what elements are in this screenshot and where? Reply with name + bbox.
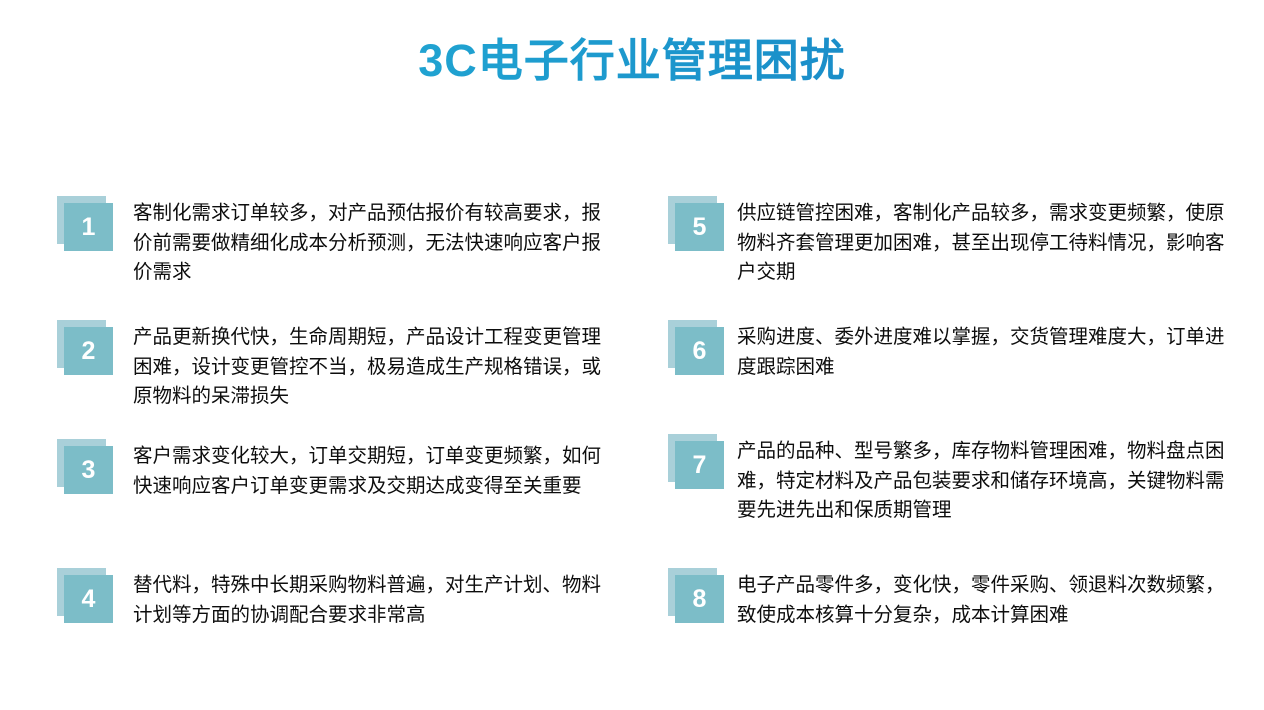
- item-description: 产品的品种、型号繁多，库存物料管理困难，物料盘点困难，特定材料及产品包装要求和储…: [737, 437, 1227, 526]
- item-description: 采购进度、委外进度难以掌握，交货管理难度大，订单进度跟踪困难: [737, 323, 1227, 382]
- left-column: 1 客制化需求订单较多，对产品预估报价有较高要求，报价前需要做精细化成本分析预测…: [0, 0, 632, 710]
- item-description: 客制化需求订单较多，对产品预估报价有较高要求，报价前需要做精细化成本分析预测，无…: [133, 199, 603, 288]
- item-description: 供应链管控困难，客制化产品较多，需求变更频繁，使原物料齐套管理更加困难，甚至出现…: [737, 199, 1227, 288]
- badge-number: 5: [675, 203, 724, 251]
- badge-number: 2: [64, 327, 113, 375]
- badge-number: 6: [675, 327, 724, 375]
- item-description: 客户需求变化较大，订单交期短，订单变更频繁，如何快速响应客户订单变更需求及交期达…: [133, 442, 603, 501]
- item-number-badge: 7: [668, 434, 730, 494]
- item-number-badge: 3: [57, 439, 119, 499]
- item-number-badge: 8: [668, 568, 730, 628]
- item-number-badge: 4: [57, 568, 119, 628]
- badge-number: 1: [64, 203, 113, 251]
- badge-number: 7: [675, 441, 724, 489]
- item-number-badge: 5: [668, 196, 730, 256]
- badge-number: 3: [64, 446, 113, 494]
- item-description: 电子产品零件多，变化快，零件采购、领退料次数频繁，致使成本核算十分复杂，成本计算…: [737, 571, 1227, 630]
- item-description: 替代料，特殊中长期采购物料普遍，对生产计划、物料计划等方面的协调配合要求非常高: [133, 571, 603, 630]
- item-number-badge: 1: [57, 196, 119, 256]
- slide-canvas: 3C电子行业管理困扰 1 客制化需求订单较多，对产品预估报价有较高要求，报价前需…: [0, 0, 1264, 710]
- item-description: 产品更新换代快，生命周期短，产品设计工程变更管理困难，设计变更管控不当，极易造成…: [133, 323, 603, 412]
- item-number-badge: 6: [668, 320, 730, 380]
- item-number-badge: 2: [57, 320, 119, 380]
- right-column: 5 供应链管控困难，客制化产品较多，需求变更频繁，使原物料齐套管理更加困难，甚至…: [632, 0, 1264, 710]
- badge-number: 4: [64, 575, 113, 623]
- badge-number: 8: [675, 575, 724, 623]
